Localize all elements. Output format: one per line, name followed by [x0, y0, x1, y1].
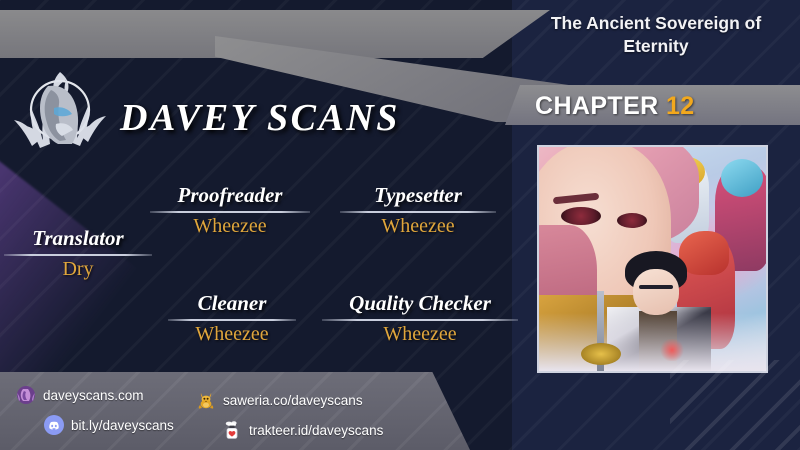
credit-role: Typesetter: [340, 183, 496, 208]
trakteer-jar-icon: [222, 420, 242, 440]
link-label: saweria.co/daveyscans: [223, 393, 363, 408]
cover-protagonist-eye-left: [561, 207, 601, 225]
link-discord[interactable]: bit.ly/daveyscans: [44, 415, 174, 435]
credit-role: Cleaner: [168, 291, 296, 316]
credit-cleaner: Cleaner Wheezee: [168, 291, 296, 346]
link-label: daveyscans.com: [43, 388, 144, 403]
credit-name: Wheezee: [322, 323, 518, 346]
credit-name: Wheezee: [340, 215, 496, 238]
credit-name: Dry: [4, 258, 152, 281]
spartan-helmet-flames-icon: [10, 68, 110, 156]
credit-typesetter: Typesetter Wheezee: [340, 183, 496, 238]
discord-icon: [44, 415, 64, 435]
credit-rule: [150, 211, 310, 213]
cover-protagonist-eye-right: [617, 213, 647, 228]
chapter-label: CHAPTER 12: [535, 92, 695, 121]
cover-red-gem-glow: [659, 339, 685, 361]
credit-quality-checker: Quality Checker Wheezee: [322, 291, 518, 346]
chapter-number: 12: [666, 92, 695, 120]
helmet-logo-icon: [16, 385, 36, 405]
credit-role: Translator: [4, 226, 152, 251]
link-label: trakteer.id/daveyscans: [249, 423, 383, 438]
credit-name: Wheezee: [150, 215, 310, 238]
cover-boy-eyes: [639, 285, 673, 289]
credit-rule: [4, 254, 152, 256]
credit-role: Proofreader: [150, 183, 310, 208]
series-title: The Ancient Sovereign of Eternity: [518, 12, 794, 58]
credit-role: Quality Checker: [322, 291, 518, 316]
cover-gold-ornament: [581, 343, 621, 365]
link-saweria[interactable]: saweria.co/daveyscans: [196, 390, 363, 410]
saweria-kangaroo-icon: [196, 390, 216, 410]
credit-proofreader: Proofreader Wheezee: [150, 183, 310, 238]
credit-translator: Translator Dry: [4, 226, 152, 281]
link-label: bit.ly/daveyscans: [71, 418, 174, 433]
footer-right-stripes: [670, 360, 800, 450]
chapter-credits-banner: The Ancient Sovereign of Eternity CHAPTE…: [0, 0, 800, 450]
credit-rule: [322, 319, 518, 321]
credit-rule: [340, 211, 496, 213]
cover-boy-face: [633, 269, 679, 315]
credit-rule: [168, 319, 296, 321]
brand-wordmark: DAVEY SCANS: [120, 96, 400, 140]
chapter-cover-artwork: [537, 145, 768, 373]
link-trakteer[interactable]: trakteer.id/daveyscans: [222, 420, 383, 440]
chapter-word: CHAPTER: [535, 92, 659, 120]
cover-character-blue-hair-top: [721, 159, 763, 197]
credit-name: Wheezee: [168, 323, 296, 346]
link-website[interactable]: daveyscans.com: [16, 385, 144, 405]
